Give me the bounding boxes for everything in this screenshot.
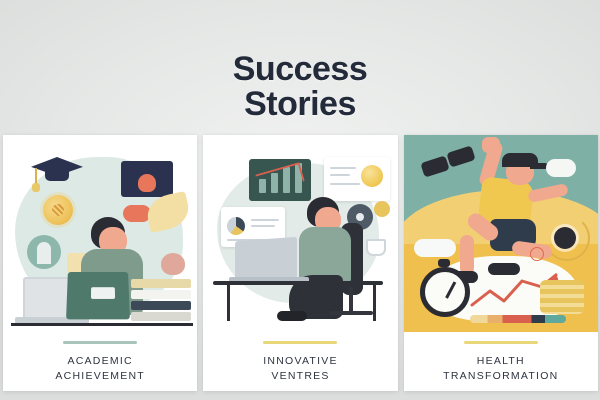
smiley-icon (530, 247, 544, 261)
cap-brim-icon (530, 163, 548, 169)
lightbulb-brain-icon (43, 195, 73, 225)
caption-line-2: ACHIEVEMENT (55, 369, 145, 384)
desk-leg-left (227, 283, 230, 321)
desk-line (11, 323, 193, 326)
card-illustration-innovative (203, 135, 397, 332)
book-stack-icon (131, 279, 191, 323)
page-title: Success Stories (0, 52, 600, 123)
card-footer-academic: ACADEMIC ACHIEVEMENT (3, 332, 197, 391)
card-health-transformation[interactable]: HEALTH TRANSFORMATION (404, 135, 598, 391)
chair-wheels (329, 311, 373, 315)
avatar-icon (27, 235, 61, 269)
page-title-line-2: Stories (0, 87, 600, 122)
coffee-cup-icon (366, 239, 386, 256)
worker-shoe (277, 311, 307, 321)
card-innovative-ventres[interactable]: INNOVATIVE VENTRES (203, 135, 397, 391)
caption-line-1: INNOVATIVE (263, 354, 338, 369)
chat-bubble-icon (546, 159, 576, 177)
dumbbell-icon (420, 155, 449, 177)
card-illustration-health (404, 135, 598, 332)
lightbulb-icon (361, 165, 383, 187)
card-caption-academic: ACADEMIC ACHIEVEMENT (55, 354, 145, 384)
athlete-fist (482, 137, 500, 153)
caption-line-1: HEALTH (443, 354, 558, 369)
caption-line-1: ACADEMIC (55, 354, 145, 369)
progress-bar-icon (470, 315, 566, 323)
dumbbell-icon-2 (446, 145, 475, 167)
card-illustration-academic (3, 135, 197, 332)
graduation-cap-knot-icon (32, 183, 40, 192)
athlete-shin (460, 235, 474, 275)
card-academic-achievement[interactable]: ACADEMIC ACHIEVEMENT (3, 135, 197, 391)
card-divider (63, 341, 137, 344)
open-book-icon (66, 272, 130, 319)
card-footer-innovative: INNOVATIVE VENTRES (203, 332, 397, 391)
caption-line-2: VENTRES (263, 369, 338, 384)
coins-icon (540, 280, 584, 314)
card-divider (464, 341, 538, 344)
teddy-bear-icon (161, 253, 185, 275)
stopwatch-icon (420, 267, 470, 317)
monitor-icon (121, 161, 173, 197)
lightbulb-panel-icon (324, 157, 390, 201)
desk-leg-right (373, 283, 376, 321)
wheel-icon (554, 227, 576, 249)
caption-line-2: TRANSFORMATION (443, 369, 558, 384)
stopwatch-crown (438, 259, 450, 267)
desk-icon (213, 281, 383, 285)
bar-chart-panel-icon (249, 159, 311, 201)
card-footer-health: HEALTH TRANSFORMATION (404, 332, 598, 391)
page-title-line-1: Success (0, 52, 600, 87)
graduation-cap-tassel-icon (35, 168, 37, 184)
pie-chart-icon (227, 217, 245, 235)
card-caption-innovative: INNOVATIVE VENTRES (263, 354, 338, 384)
graduation-cap-base-icon (45, 171, 69, 181)
tag-icon (414, 239, 456, 257)
chair-stem (349, 287, 353, 313)
card-caption-health: HEALTH TRANSFORMATION (443, 354, 558, 384)
success-stories-card-list: ACADEMIC ACHIEVEMENT (3, 135, 598, 391)
gear-small-icon (374, 201, 390, 217)
card-divider (263, 341, 337, 344)
